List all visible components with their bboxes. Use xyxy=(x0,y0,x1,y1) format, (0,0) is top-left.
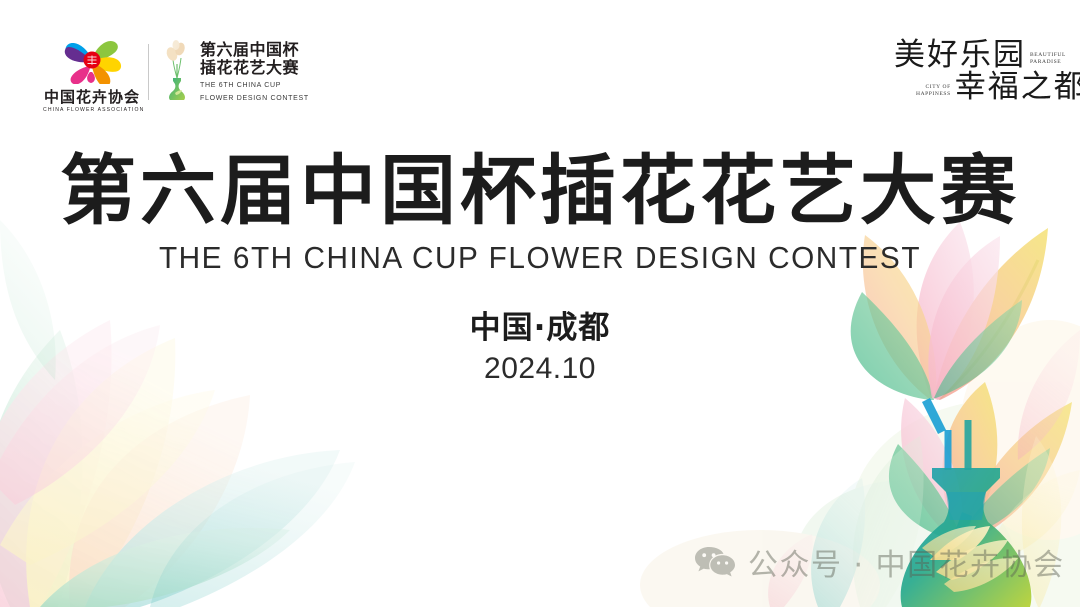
beautiful-paradise-logo: 美好乐园 BEAUTIFUL PARADISE CITY OF HAPPINES… xyxy=(886,30,1056,110)
paradise-cn-line2: 幸福之都 xyxy=(955,70,1080,104)
page-title: 第六届中国杯插花花艺大赛 xyxy=(0,148,1080,234)
flower-vase-icon xyxy=(160,38,194,100)
event-meta: 中国·成都 2024.10 xyxy=(0,308,1080,388)
title-block: 第六届中国杯插花花艺大赛 THE 6TH CHINA CUP FLOWER DE… xyxy=(0,148,1080,278)
logo-divider xyxy=(148,44,149,100)
event-location: 中国·成都 xyxy=(0,308,1080,348)
paradise-cn-line1: 美好乐园 xyxy=(894,38,1026,72)
paradise-en-line1-a: BEAUTIFUL xyxy=(1030,52,1066,58)
cfa-name-en: CHINA FLOWER ASSOCIATION xyxy=(43,106,141,114)
paradise-en-line1-b: PARADISE xyxy=(1030,59,1061,65)
page-subtitle: THE 6TH CHINA CUP FLOWER DESIGN CONTEST xyxy=(22,238,1059,278)
poster-canvas: 中国花卉协会 CHINA FLOWER ASSOCIATION xyxy=(0,0,1080,607)
watermark-text: 公众号 · 中国花卉协会 xyxy=(748,540,1065,584)
contest-logo: 第六届中国杯 插花花艺大赛 THE 6TH CHINA CUP FLOWER D… xyxy=(160,38,309,104)
decor-flower-lower-right xyxy=(889,382,1072,544)
contest-logo-name-en-line2: FLOWER DESIGN CONTEST xyxy=(200,94,309,104)
contest-logo-name-cn-line1: 第六届中国杯 xyxy=(200,42,309,60)
poster-header: 中国花卉协会 CHINA FLOWER ASSOCIATION xyxy=(0,0,1080,130)
contest-logo-name-en-line1: THE 6TH CHINA CUP xyxy=(200,81,309,91)
wechat-icon xyxy=(694,545,736,579)
event-date: 2024.10 xyxy=(0,350,1080,388)
decor-bottom-left-leaf xyxy=(150,462,355,607)
contest-logo-name-cn-line2: 插花花艺大赛 xyxy=(200,60,309,78)
paradise-en-line2-a: CITY OF xyxy=(926,84,951,90)
paradise-en-line2: CITY OF HAPPINESS xyxy=(916,84,955,104)
china-flower-association-logo: 中国花卉协会 CHINA FLOWER ASSOCIATION xyxy=(44,38,140,114)
wechat-watermark: 公众号 · 中国花卉协会 xyxy=(694,540,1065,584)
paradise-en-line2-b: HAPPINESS xyxy=(916,91,951,97)
china-flower-association-pinwheel-icon xyxy=(44,38,140,84)
cfa-name-cn: 中国花卉协会 xyxy=(44,89,140,106)
